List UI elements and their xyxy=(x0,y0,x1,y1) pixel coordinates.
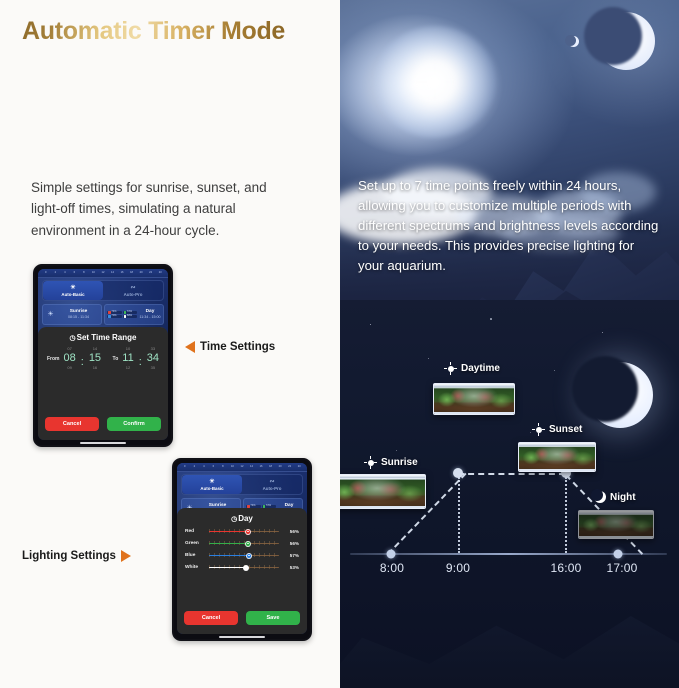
hour-tick: 14 xyxy=(247,466,257,469)
to-group[interactable]: To 10 11 12 : 33 34 xyxy=(113,347,159,370)
tank-rim xyxy=(340,475,425,478)
night-mountain-ridge xyxy=(340,568,679,688)
period-time: 11:34 - 15:00 xyxy=(139,315,161,320)
home-indicator xyxy=(80,442,126,444)
sun-icon: ☀ xyxy=(70,285,75,291)
label-night: Night xyxy=(594,491,636,503)
hour-tick: 2 xyxy=(190,466,200,469)
aquarium-thumbnail-daytime xyxy=(433,383,515,415)
hour-tick: 4 xyxy=(60,272,70,275)
label-daytime: Daytime xyxy=(444,362,500,375)
tab-label: Auto-Basic xyxy=(61,292,84,297)
from-minute-wheel[interactable]: 14 15 16 xyxy=(89,347,101,370)
sunrise-icon xyxy=(364,456,377,469)
dialog-title-row: ◷ Set Time Range xyxy=(45,333,161,342)
chip-white: 68% xyxy=(123,315,138,318)
sunset-icon xyxy=(532,423,545,436)
slider-knob-white[interactable] xyxy=(243,565,249,571)
hour-tick: 22 xyxy=(285,466,295,469)
next-value: 16 xyxy=(93,366,97,370)
slider-track-white[interactable] xyxy=(209,564,279,571)
sun-icon xyxy=(444,362,457,375)
tab-auto-pro[interactable]: ∾ Auto-Pro xyxy=(242,475,302,494)
hour-tick: 6 xyxy=(70,272,80,275)
axis-tick-17: 17:00 xyxy=(606,561,637,575)
tank-scene xyxy=(340,475,425,508)
tab-label: Auto-Pro xyxy=(124,292,143,297)
hour-tick: 18 xyxy=(127,272,137,275)
hour-tick: 6 xyxy=(209,466,219,469)
clock-icon: ◷ xyxy=(70,334,76,342)
sun-icon: ☀ xyxy=(209,479,214,485)
hour-ruler-1: 0 2 4 6 8 10 12 14 16 18 20 22 23 xyxy=(38,269,168,278)
slider-track-red[interactable] xyxy=(209,528,279,535)
feature-paragraph: Set up to 7 time points freely within 24… xyxy=(358,176,663,276)
selected-value: 15 xyxy=(89,353,101,364)
from-group[interactable]: From 07 08 09 : 14 15 xyxy=(47,347,101,370)
hour-tick: 0 xyxy=(41,272,51,275)
time-picker[interactable]: From 07 08 09 : 14 15 xyxy=(45,345,161,370)
confirm-button[interactable]: Confirm xyxy=(107,417,161,431)
cancel-button[interactable]: Cancel xyxy=(184,611,238,625)
node-daytime-start[interactable] xyxy=(453,468,463,478)
slider-row-white[interactable]: White 53% xyxy=(185,564,299,571)
selected-value: 11 xyxy=(122,353,133,364)
sun-glow xyxy=(374,26,496,138)
from-label: From xyxy=(47,356,60,362)
hour-tick: 14 xyxy=(108,272,118,275)
timeline-diagram: 8:00 9:00 16:00 17:00 xyxy=(340,355,679,585)
axis-tick-9: 9:00 xyxy=(446,561,470,575)
chip-value: 68% xyxy=(127,315,132,318)
next-value: 09 xyxy=(67,366,71,370)
to-label: To xyxy=(113,356,119,362)
hour-tick: 12 xyxy=(237,466,247,469)
hour-tick: 20 xyxy=(136,272,146,275)
axis-tick-8: 8:00 xyxy=(380,561,404,575)
tab-auto-basic[interactable]: ☀ Auto-Basic xyxy=(182,475,242,494)
star xyxy=(370,324,371,325)
next-value: 35 xyxy=(151,366,155,370)
hour-tick: 23 xyxy=(294,466,304,469)
moon-icon xyxy=(594,491,606,503)
hour-tick: 2 xyxy=(51,272,61,275)
dialog-actions-lighting: Cancel Save xyxy=(184,611,300,625)
right-panel: Set up to 7 time points freely within 24… xyxy=(340,0,679,688)
tank-rim xyxy=(519,443,595,446)
axis-tick-16: 16:00 xyxy=(550,561,581,575)
hour-tick: 18 xyxy=(266,466,276,469)
slider-knob-red[interactable] xyxy=(245,529,251,535)
sky-photo xyxy=(340,0,679,340)
label-text: Daytime xyxy=(461,363,500,374)
phone-screen-lighting: 0 2 4 6 8 10 12 14 16 18 20 22 23 ☀ xyxy=(177,463,307,634)
promo-page: Automatic Timer Mode Simple settings for… xyxy=(0,0,679,688)
prev-value: 14 xyxy=(93,347,97,351)
slider-value: 53% xyxy=(283,565,299,570)
period-card-day[interactable]: 74% 72% 70% 68% Day 11:34 - 15:00 xyxy=(104,304,164,325)
hour-tick: 16 xyxy=(256,466,266,469)
dialog-title: Day xyxy=(238,514,253,523)
cancel-button[interactable]: Cancel xyxy=(45,417,99,431)
axis-node-8[interactable] xyxy=(387,550,396,559)
phone-mockup-lighting-settings: 0 2 4 6 8 10 12 14 16 18 20 22 23 ☀ xyxy=(172,458,312,641)
period-card-sunrise[interactable]: ☀ Sunrise 08:15 - 11:34 xyxy=(42,304,102,325)
axis-node-17[interactable] xyxy=(614,550,623,559)
label-sunrise: Sunrise xyxy=(364,456,418,469)
tab-auto-basic[interactable]: ☀ Auto-Basic xyxy=(43,281,103,300)
slider-row-blue[interactable]: Blue 57% xyxy=(185,552,299,559)
hour-tick: 16 xyxy=(117,272,127,275)
day-lighting-dialog: ◷ Day Red 56% Green xyxy=(177,508,307,634)
tank-rim xyxy=(434,384,514,387)
time-separator: : xyxy=(81,356,84,368)
slider-label: Blue xyxy=(185,553,205,558)
from-hour-wheel[interactable]: 07 08 09 xyxy=(64,347,76,370)
dialog-title-row: ◷ Day xyxy=(184,514,300,523)
hour-tick: 8 xyxy=(79,272,89,275)
slider-track-blue[interactable] xyxy=(209,552,279,559)
guide-line-9 xyxy=(458,477,460,553)
to-hour-wheel[interactable]: 10 11 12 xyxy=(122,347,133,370)
hour-tick: 22 xyxy=(146,272,156,275)
next-value: 12 xyxy=(126,366,130,370)
hour-tick: 23 xyxy=(155,272,165,275)
star xyxy=(602,332,603,333)
home-indicator xyxy=(219,636,265,638)
intro-paragraph: Simple settings for sunrise, sunset, and… xyxy=(31,177,299,241)
hour-tick: 10 xyxy=(89,272,99,275)
time-separator: : xyxy=(139,356,142,368)
tank-scene xyxy=(519,443,595,471)
chip-blue: 70% xyxy=(107,315,122,318)
guide-line-16 xyxy=(565,477,567,553)
mode-tab-bar-2[interactable]: ☀ Auto-Basic ∾ Auto-Pro xyxy=(181,474,303,495)
phone-screen-time: 0 2 4 6 8 10 12 14 16 18 20 22 23 ☀ xyxy=(38,269,168,440)
curve-icon: ∾ xyxy=(269,479,274,485)
tank-base xyxy=(434,412,514,414)
slider-value: 57% xyxy=(283,553,299,558)
tank-scene xyxy=(434,384,514,414)
prev-value: 07 xyxy=(67,347,71,351)
callout-label: Time Settings xyxy=(200,341,275,353)
phone-mockup-time-settings: 0 2 4 6 8 10 12 14 16 18 20 22 23 ☀ xyxy=(33,264,173,447)
save-button[interactable]: Save xyxy=(246,611,300,625)
slider-value: 56% xyxy=(283,529,299,534)
tank-rim xyxy=(579,511,653,514)
hour-tick: 0 xyxy=(180,466,190,469)
page-title: Automatic Timer Mode xyxy=(22,17,285,46)
hour-tick: 20 xyxy=(275,466,285,469)
tab-auto-pro[interactable]: ∾ Auto-Pro xyxy=(103,281,163,300)
label-text: Night xyxy=(610,492,636,503)
set-time-range-dialog: ◷ Set Time Range From 07 08 09 xyxy=(38,327,168,440)
prev-value: 33 xyxy=(151,347,155,351)
hour-tick: 8 xyxy=(218,466,228,469)
aquarium-thumbnail-sunset xyxy=(518,442,596,472)
clock-icon: ◷ xyxy=(231,515,237,523)
aquarium-thumbnail-night xyxy=(578,510,654,539)
hour-tick: 10 xyxy=(228,466,238,469)
curve-icon: ∾ xyxy=(130,285,135,291)
slider-row-green[interactable]: Green 56% xyxy=(185,540,299,547)
dialog-actions-time: Cancel Confirm xyxy=(45,417,161,431)
slider-row-red[interactable]: Red 56% xyxy=(185,528,299,535)
hour-tick: 4 xyxy=(199,466,209,469)
period-time: 08:15 - 11:34 xyxy=(58,315,99,320)
slider-label: White xyxy=(185,565,205,570)
dialog-title: Set Time Range xyxy=(77,333,137,342)
hour-tick: 12 xyxy=(98,272,108,275)
mode-tab-bar-1[interactable]: ☀ Auto-Basic ∾ Auto-Pro xyxy=(42,280,164,301)
prev-value: 10 xyxy=(126,347,130,351)
slider-knob-green[interactable] xyxy=(245,541,251,547)
label-text: Sunrise xyxy=(381,457,418,468)
small-moon-icon xyxy=(568,36,579,47)
tab-label: Auto-Basic xyxy=(200,486,223,491)
slider-value: 56% xyxy=(283,541,299,546)
hour-ruler-2: 0 2 4 6 8 10 12 14 16 18 20 22 23 xyxy=(177,463,307,472)
selected-value: 08 xyxy=(64,353,76,364)
aquarium-thumbnail-sunrise xyxy=(340,474,426,509)
to-minute-wheel[interactable]: 33 34 35 xyxy=(147,347,159,370)
slider-label: Green xyxy=(185,541,205,546)
tab-label: Auto-Pro xyxy=(263,486,282,491)
tank-scene xyxy=(579,511,653,538)
chip-value: 70% xyxy=(111,315,116,318)
triangle-right-icon xyxy=(121,550,131,562)
tank-base xyxy=(579,536,653,538)
callout-label: Lighting Settings xyxy=(22,550,116,562)
callout-lighting-settings: Lighting Settings xyxy=(22,550,131,562)
tank-base xyxy=(340,506,425,508)
slider-track-green[interactable] xyxy=(209,540,279,547)
slider-label: Red xyxy=(185,529,205,534)
sunrise-icon: ☀ xyxy=(45,311,56,318)
star xyxy=(490,318,492,320)
triangle-left-icon xyxy=(185,341,195,353)
segment-day-plateau xyxy=(458,473,565,475)
callout-time-settings: Time Settings xyxy=(185,341,275,353)
channel-chips-day: 74% 72% 70% 68% xyxy=(107,311,137,318)
left-panel: Automatic Timer Mode Simple settings for… xyxy=(0,0,340,688)
label-sunset: Sunset xyxy=(532,423,582,436)
label-text: Sunset xyxy=(549,424,582,435)
slider-knob-blue[interactable] xyxy=(246,553,252,559)
selected-value: 34 xyxy=(147,353,159,364)
crescent-moon-icon xyxy=(597,12,655,70)
tank-base xyxy=(519,469,595,471)
